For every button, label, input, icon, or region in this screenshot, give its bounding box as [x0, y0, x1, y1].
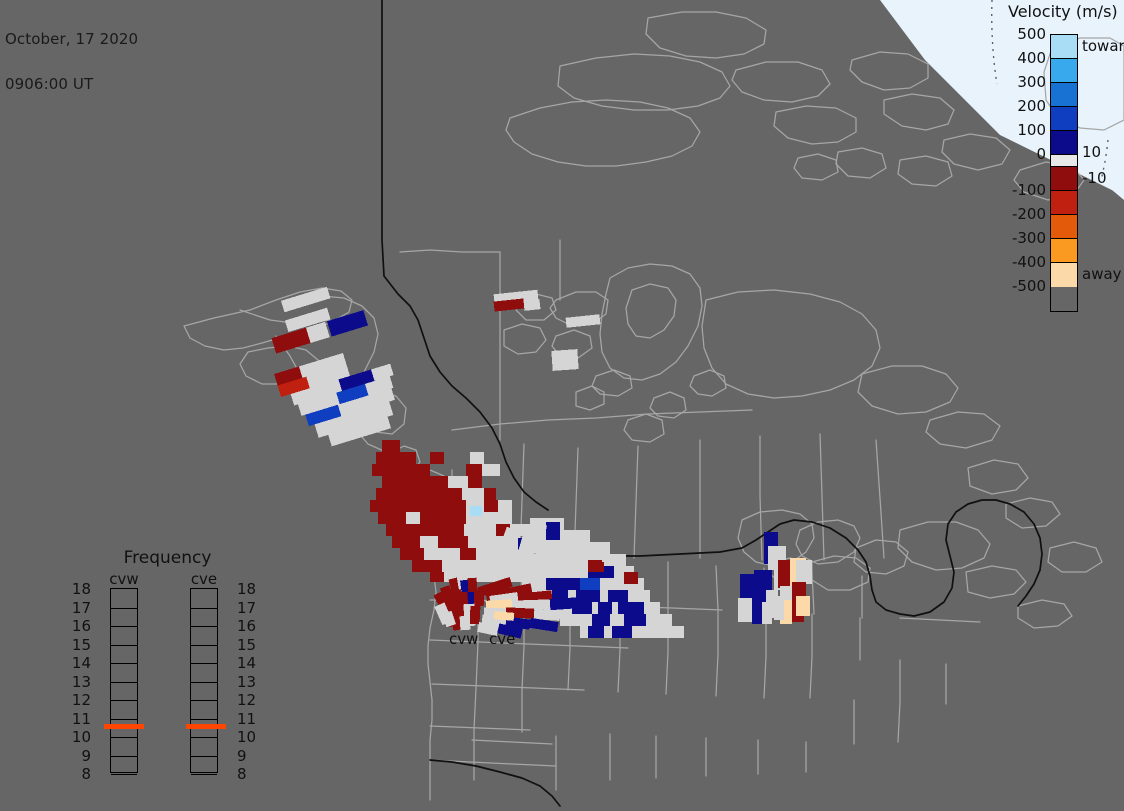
- velocity-color-band-3: [1051, 107, 1077, 131]
- frequency-gridline-cvw-8: [111, 774, 137, 793]
- velocity-tick-3: 200: [1017, 97, 1046, 115]
- frequency-tick-cve-15: 15: [237, 636, 256, 654]
- velocity-tick-10: -500: [1012, 277, 1046, 295]
- frequency-gridline-cve-14: [191, 663, 217, 682]
- frequency-gridline-cvw-9: [111, 756, 137, 775]
- velocity-zero-lower-label: -10: [1082, 169, 1107, 187]
- timestamp-date: October, 17 2020: [5, 32, 138, 47]
- frequency-column-label-cvw: cvw: [93, 570, 155, 588]
- frequency-column-cvw: cvw 18171615141312111098: [93, 570, 155, 773]
- frequency-tick-cvw-12: 12: [72, 691, 91, 709]
- frequency-track-cvw: 18171615141312111098: [110, 588, 138, 773]
- velocity-color-band-0: [1051, 35, 1077, 59]
- frequency-marker-cvw: [104, 724, 144, 729]
- frequency-tick-cvw-16: 16: [72, 617, 91, 635]
- frequency-tick-cve-18: 18: [237, 580, 256, 598]
- radar-map-view: October, 17 2020 0906:00 UT cvw cve Velo…: [0, 0, 1124, 811]
- velocity-tick-8: -300: [1012, 229, 1046, 247]
- velocity-colorbar-title: Velocity (m/s): [1008, 2, 1124, 21]
- velocity-zero-upper-label: 10: [1082, 143, 1101, 161]
- velocity-colorbar-panel: Velocity (m/s) 5004003002001000-100-200-…: [1000, 0, 1124, 330]
- velocity-colorbar: [1050, 34, 1078, 312]
- velocity-color-band-9: [1051, 239, 1077, 263]
- radar-cell-group-west-away: [370, 440, 536, 582]
- frequency-gridline-cve-13: [191, 682, 217, 701]
- frequency-gridline-cve-16: [191, 626, 217, 645]
- frequency-gridline-cve-8: [191, 774, 217, 793]
- velocity-tick-9: -400: [1012, 253, 1046, 271]
- frequency-tick-cvw-10: 10: [72, 728, 91, 746]
- frequency-gridline-cvw-12: [111, 700, 137, 719]
- velocity-color-band-6: [1051, 167, 1077, 191]
- timestamp-time: 0906:00 UT: [5, 77, 138, 92]
- velocity-color-band-1: [1051, 59, 1077, 83]
- frequency-tick-cvw-8: 8: [81, 765, 91, 783]
- velocity-color-band-5: [1051, 155, 1077, 167]
- frequency-gridline-cvw-14: [111, 663, 137, 682]
- frequency-tick-cvw-17: 17: [72, 599, 91, 617]
- velocity-tick-2: 300: [1017, 73, 1046, 91]
- frequency-tick-cvw-11: 11: [72, 710, 91, 728]
- frequency-tick-cve-10: 10: [237, 728, 256, 746]
- radar-cell-group-north: [494, 290, 601, 371]
- velocity-color-band-8: [1051, 215, 1077, 239]
- frequency-gridline-cvw-10: [111, 737, 137, 756]
- frequency-gridline-cvw-13: [111, 682, 137, 701]
- velocity-color-band-10: [1051, 263, 1077, 287]
- velocity-tick-5: 0: [1036, 145, 1046, 163]
- frequency-tick-cve-16: 16: [237, 617, 256, 635]
- timestamp: October, 17 2020 0906:00 UT: [5, 2, 138, 122]
- frequency-gridline-cve-17: [191, 608, 217, 627]
- velocity-color-band-2: [1051, 83, 1077, 107]
- frequency-gridline-cve-9: [191, 756, 217, 775]
- frequency-gridline-cvw-15: [111, 645, 137, 664]
- site-label-cve: cve: [489, 630, 515, 648]
- frequency-gridline-cve-10: [191, 737, 217, 756]
- velocity-tick-7: -200: [1012, 205, 1046, 223]
- frequency-gridline-cvw-16: [111, 626, 137, 645]
- site-label-cvw: cvw: [449, 630, 478, 648]
- frequency-marker-cve: [186, 724, 226, 729]
- velocity-tick-6: -100: [1012, 181, 1046, 199]
- velocity-tick-4: 100: [1017, 121, 1046, 139]
- frequency-tick-cvw-18: 18: [72, 580, 91, 598]
- frequency-legend-panel: Frequency cvw 18171615141312111098 cve 1…: [85, 548, 250, 788]
- frequency-legend-title: Frequency: [85, 548, 250, 568]
- frequency-tick-cve-8: 8: [237, 765, 247, 783]
- frequency-tick-cvw-9: 9: [81, 747, 91, 765]
- frequency-tick-cvw-13: 13: [72, 673, 91, 691]
- frequency-tick-cvw-14: 14: [72, 654, 91, 672]
- frequency-column-cve: cve 18171615141312111098: [173, 570, 235, 773]
- frequency-gridline-cvw-17: [111, 608, 137, 627]
- frequency-tick-cve-12: 12: [237, 691, 256, 709]
- velocity-color-band-7: [1051, 191, 1077, 215]
- frequency-tick-cve-9: 9: [237, 747, 247, 765]
- velocity-away-label: away: [1082, 265, 1122, 283]
- velocity-tick-1: 400: [1017, 49, 1046, 67]
- frequency-track-cve: 18171615141312111098: [190, 588, 218, 773]
- frequency-gridline-cve-15: [191, 645, 217, 664]
- velocity-tick-0: 500: [1017, 25, 1046, 43]
- frequency-tick-cve-14: 14: [237, 654, 256, 672]
- frequency-tick-cve-13: 13: [237, 673, 256, 691]
- radar-cell-group-great-lakes: [738, 532, 812, 624]
- radar-cell-group-northwest: [254, 276, 408, 457]
- velocity-toward-label: toward: [1082, 37, 1124, 55]
- frequency-gridline-cve-12: [191, 700, 217, 719]
- frequency-tick-cve-17: 17: [237, 599, 256, 617]
- frequency-column-label-cve: cve: [173, 570, 235, 588]
- frequency-tick-cvw-15: 15: [72, 636, 91, 654]
- velocity-color-band-4: [1051, 131, 1077, 155]
- frequency-tick-cve-11: 11: [237, 710, 256, 728]
